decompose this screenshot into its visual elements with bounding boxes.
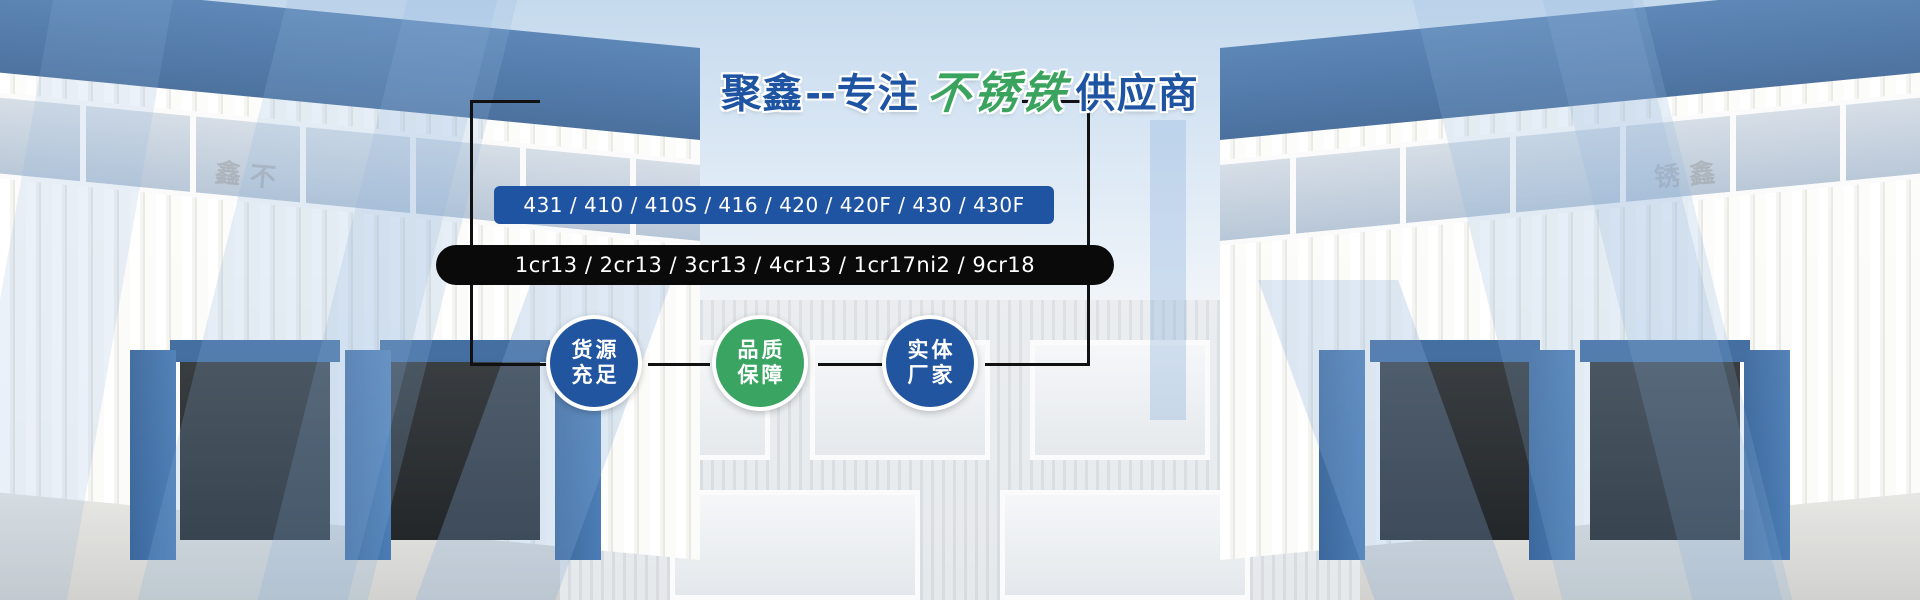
promo-banner: 鑫 不 锈 鑫 bbox=[0, 0, 1920, 600]
headline-part-brand: 聚鑫 bbox=[721, 74, 803, 114]
badge-line-1: 货源 bbox=[569, 338, 620, 363]
badge-line-2: 厂家 bbox=[905, 363, 956, 388]
badge-connector-line bbox=[818, 363, 886, 366]
headline: 聚鑫--专注不锈铁供应商 bbox=[0, 72, 1920, 116]
badge-line-1: 品质 bbox=[735, 338, 786, 363]
grade-bar-primary: 431 / 410 / 410S / 416 / 420 / 420F / 43… bbox=[494, 186, 1054, 224]
badge-supply: 货源 充足 bbox=[546, 315, 642, 411]
badge-line-2: 保障 bbox=[735, 363, 786, 388]
badge-line-1: 实体 bbox=[905, 338, 956, 363]
grade-bar-secondary: 1cr13 / 2cr13 / 3cr13 / 4cr13 / 1cr17ni2… bbox=[436, 245, 1114, 285]
frame-line-right bbox=[1087, 100, 1090, 366]
frame-line-left bbox=[470, 100, 473, 366]
headline-part-supplier: 供应商 bbox=[1076, 74, 1199, 114]
headline-dash: -- bbox=[803, 75, 837, 113]
overlay-graphics: 聚鑫--专注不锈铁供应商 431 / 410 / 410S / 416 / 42… bbox=[0, 0, 1920, 600]
badge-connector-line bbox=[648, 363, 710, 366]
headline-part-focus: 专注 bbox=[837, 74, 919, 114]
badge-quality: 品质 保障 bbox=[712, 315, 808, 411]
badge-factory: 实体 厂家 bbox=[882, 315, 978, 411]
headline-part-highlight: 不锈铁 bbox=[916, 72, 1078, 116]
frame-line-bottom-right bbox=[985, 363, 1090, 366]
badge-line-2: 充足 bbox=[569, 363, 620, 388]
